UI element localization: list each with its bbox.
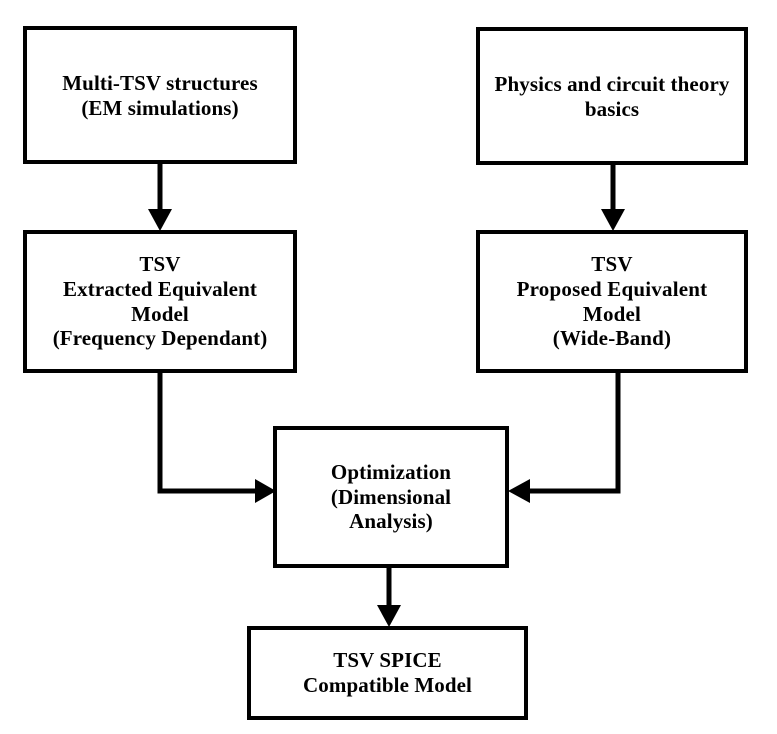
edge-em-sim-to-extracted [148, 164, 172, 231]
edge-optimization-to-spice [377, 568, 401, 627]
node-multi-tsv-structures[interactable]: Multi-TSV structures (EM simulations) [23, 26, 297, 164]
node-physics-and-circuit-theory[interactable]: Physics and circuit theory basics [476, 27, 748, 165]
node-label: Physics and circuit theory basics [480, 70, 744, 122]
node-label: Multi-TSV structures (EM simulations) [27, 69, 293, 121]
node-optimization-dimensional-analysis[interactable]: Optimization (Dimensional Analysis) [273, 426, 509, 568]
node-label: Optimization (Dimensional Analysis) [277, 460, 505, 534]
edge-extracted-to-optimization [160, 373, 276, 503]
node-tsv-spice-compatible-model[interactable]: TSV SPICE Compatible Model [247, 626, 528, 720]
node-label: TSV Extracted Equivalent Model (Frequenc… [27, 252, 293, 351]
edge-physics-to-proposed [601, 165, 625, 231]
flowchart-diagram: Multi-TSV structures (EM simulations) Ph… [0, 0, 777, 734]
node-tsv-proposed-equivalent-model[interactable]: TSV Proposed Equivalent Model (Wide-Band… [476, 230, 748, 373]
node-label: TSV Proposed Equivalent Model (Wide-Band… [480, 252, 744, 351]
node-label: TSV SPICE Compatible Model [251, 648, 524, 698]
node-tsv-extracted-equivalent-model[interactable]: TSV Extracted Equivalent Model (Frequenc… [23, 230, 297, 373]
edge-proposed-to-optimization [508, 373, 618, 503]
